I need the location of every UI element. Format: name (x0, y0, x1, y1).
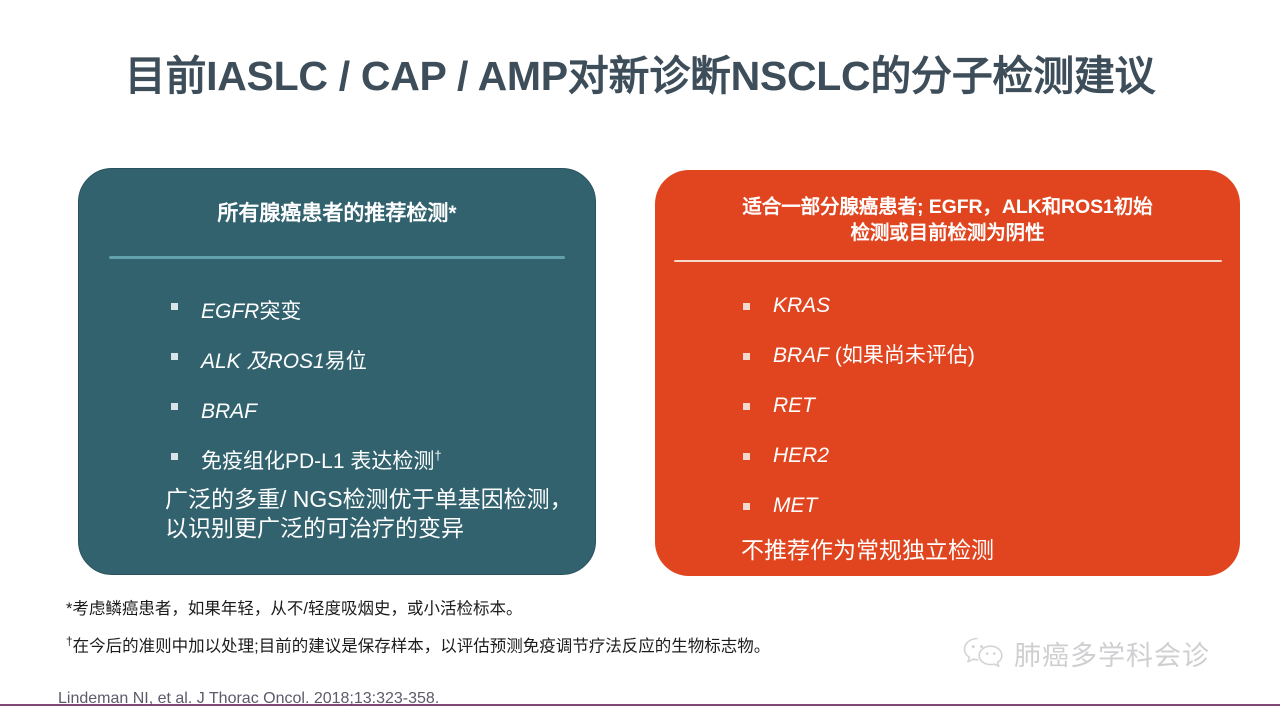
list-item-gene: HER2 (773, 444, 829, 467)
list-item: 免疫组化PD-L1 表达检测† (79, 431, 595, 481)
list-item-gene: BRAF (773, 344, 829, 367)
right-panel-list: KRAS BRAF (如果尚未评估) RET HER2 MET (655, 281, 1240, 531)
bullet-square-icon (171, 403, 178, 410)
list-item: EGFR突变 (79, 281, 595, 331)
bullet-square-icon (171, 303, 178, 310)
list-item: HER2 (655, 431, 1240, 481)
footnotes: *考虑鳞癌患者，如果年轻，从不/轻度吸烟史，或小活检标本。 †在今后的准则中加以… (66, 600, 1246, 657)
list-item-sup: † (434, 448, 441, 463)
footnote-asterisk: *考虑鳞癌患者，如果年轻，从不/轻度吸烟史，或小活检标本。 (66, 600, 1246, 620)
bullet-square-icon (743, 503, 750, 510)
right-panel-body: KRAS BRAF (如果尚未评估) RET HER2 MET 不推荐作为常规独… (655, 262, 1240, 565)
list-item-suffix: (如果尚未评估) (829, 344, 975, 367)
bottom-divider (0, 704, 1280, 706)
footnote-dagger-marker: † (66, 634, 73, 648)
list-item: KRAS (655, 281, 1240, 331)
bullet-square-icon (743, 303, 750, 310)
list-item-gene: MET (773, 494, 817, 517)
left-recommendation-panel: 所有腺癌患者的推荐检测* EGFR突变 ALK 及ROS1易位 BRAF 免疫组… (78, 168, 596, 575)
list-item: BRAF (79, 381, 595, 431)
list-item-gene: EGFR (201, 300, 259, 323)
list-item: RET (655, 381, 1240, 431)
right-panel-heading: 适合一部分腺癌患者; EGFR，ALK和ROS1初始 检测或目前检测为阴性 (655, 170, 1240, 246)
left-panel-list: EGFR突变 ALK 及ROS1易位 BRAF 免疫组化PD-L1 表达检测† (79, 281, 595, 481)
footnote-dagger-text: 在今后的准则中加以处理;目前的建议是保存样本，以评估预测免疫调节疗法反应的生物标… (73, 637, 771, 655)
list-item-suffix: 突变 (259, 300, 301, 323)
left-panel-note: 广泛的多重/ NGS检测优于单基因检测， 以识别更广泛的可治疗的变异 (79, 481, 595, 544)
list-item: ALK 及ROS1易位 (79, 331, 595, 381)
list-item: BRAF (如果尚未评估) (655, 331, 1240, 381)
bullet-square-icon (743, 353, 750, 360)
list-item-gene: BRAF (201, 400, 257, 423)
bullet-square-icon (171, 353, 178, 360)
footnote-dagger: †在今后的准则中加以处理;目前的建议是保存样本，以评估预测免疫调节疗法反应的生物… (66, 634, 1246, 657)
list-item-gene: ALK 及ROS1 (201, 350, 325, 373)
right-panel-note: 不推荐作为常规独立检测 (655, 531, 1240, 565)
bullet-square-icon (743, 403, 750, 410)
bullet-square-icon (171, 453, 178, 460)
list-item-gene: RET (773, 394, 815, 417)
left-panel-heading: 所有腺癌患者的推荐检测* (79, 169, 595, 228)
bullet-square-icon (743, 453, 750, 460)
list-item: MET (655, 481, 1240, 531)
list-item-suffix: 免疫组化PD-L1 表达检测 (201, 450, 434, 473)
list-item-gene: KRAS (773, 294, 830, 317)
right-recommendation-panel: 适合一部分腺癌患者; EGFR，ALK和ROS1初始 检测或目前检测为阴性 KR… (655, 170, 1240, 576)
left-panel-body: EGFR突变 ALK 及ROS1易位 BRAF 免疫组化PD-L1 表达检测† … (79, 259, 595, 544)
list-item-suffix: 易位 (325, 350, 367, 373)
page-title: 目前IASLC / CAP / AMP对新诊断NSCLC的分子检测建议 (0, 53, 1280, 100)
